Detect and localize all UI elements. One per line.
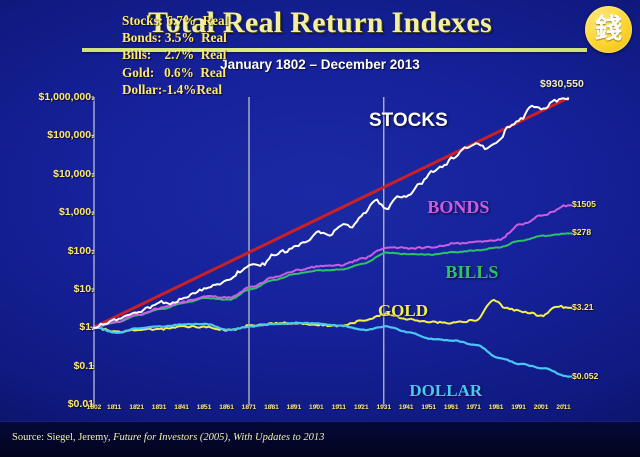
x-tick-label: 1991 bbox=[511, 404, 526, 411]
y-tick-label: $10. bbox=[74, 283, 94, 295]
stocks-endpoint-label: $930,550 bbox=[540, 78, 584, 90]
bills-label: BILLS bbox=[445, 262, 498, 283]
x-tick-label: 1811 bbox=[107, 404, 121, 411]
y-tick-label: $1,000. bbox=[59, 206, 94, 218]
stocks-label: STOCKS bbox=[369, 110, 448, 132]
x-tick-label: 1881 bbox=[264, 404, 279, 411]
x-axis-tick-labels: 1802181118211831184118511861187118811891… bbox=[0, 404, 640, 420]
bonds-label: BONDS bbox=[427, 197, 489, 218]
gold-label: GOLD bbox=[378, 301, 428, 321]
y-axis-tick-labels: $1,000,000.$100,000.$10,000.$1,000.$100.… bbox=[0, 82, 94, 422]
subtitle: January 1802 – December 2013 bbox=[0, 57, 640, 72]
x-tick-label: 1851 bbox=[197, 404, 212, 411]
money-coin-glyph: 錢 bbox=[595, 16, 622, 43]
y-tick-label: $1. bbox=[79, 321, 94, 333]
x-tick-label: 1981 bbox=[489, 404, 504, 411]
dollar-label: DOLLAR bbox=[409, 381, 482, 401]
x-tick-label: 1921 bbox=[354, 404, 369, 411]
dollar-endpoint-label: $0.052 bbox=[572, 371, 598, 381]
x-tick-label: 1911 bbox=[332, 404, 346, 411]
slide-canvas: Total Real Return Indexes January 1802 –… bbox=[0, 0, 640, 457]
source-title: Future for Investors (2005), With Update… bbox=[113, 432, 324, 443]
y-tick-label: $10,000. bbox=[53, 168, 94, 180]
bills-endpoint-label: $278 bbox=[572, 227, 591, 237]
y-tick-label: $100. bbox=[68, 245, 94, 257]
footer-bar: Source: Siegel, Jeremy, Future for Inves… bbox=[0, 421, 640, 457]
x-tick-label: 1941 bbox=[399, 404, 414, 411]
x-tick-label: 1961 bbox=[444, 404, 459, 411]
x-tick-label: 1891 bbox=[287, 404, 302, 411]
chart-plot-area: $1,000,000.$100,000.$10,000.$1,000.$100.… bbox=[0, 82, 640, 422]
y-tick-label: $0.1 bbox=[74, 360, 94, 372]
x-tick-label: 1841 bbox=[174, 404, 189, 411]
x-tick-label: 1821 bbox=[129, 404, 144, 411]
x-tick-label: 1971 bbox=[466, 404, 481, 411]
gold-endpoint-label: $3.21 bbox=[572, 302, 594, 312]
x-tick-label: 1802 bbox=[87, 404, 102, 411]
source-prefix: Source: Siegel, Jeremy, bbox=[12, 432, 113, 443]
x-tick-label: 1861 bbox=[219, 404, 234, 411]
y-tick-label: $100,000. bbox=[47, 129, 94, 141]
money-coin-logo-icon: 錢 bbox=[585, 6, 632, 53]
x-tick-label: 1951 bbox=[421, 404, 436, 411]
real-returns-stats-box: Stocks: 6.7% Real Bonds: 3.5% Real Bills… bbox=[122, 12, 228, 98]
x-tick-label: 1931 bbox=[376, 404, 391, 411]
x-tick-label: 2011 bbox=[556, 404, 570, 411]
x-tick-label: 2001 bbox=[534, 404, 549, 411]
x-tick-label: 1901 bbox=[309, 404, 324, 411]
source-citation: Source: Siegel, Jeremy, Future for Inves… bbox=[12, 432, 324, 443]
bonds-endpoint-label: $1505 bbox=[572, 199, 596, 209]
chart-svg bbox=[0, 82, 640, 422]
page-title: Total Real Return Indexes bbox=[0, 6, 640, 40]
x-tick-label: 1871 bbox=[242, 404, 257, 411]
y-tick-label: $1,000,000. bbox=[39, 91, 94, 103]
series-line-dollar bbox=[94, 322, 568, 376]
x-tick-label: 1831 bbox=[152, 404, 167, 411]
